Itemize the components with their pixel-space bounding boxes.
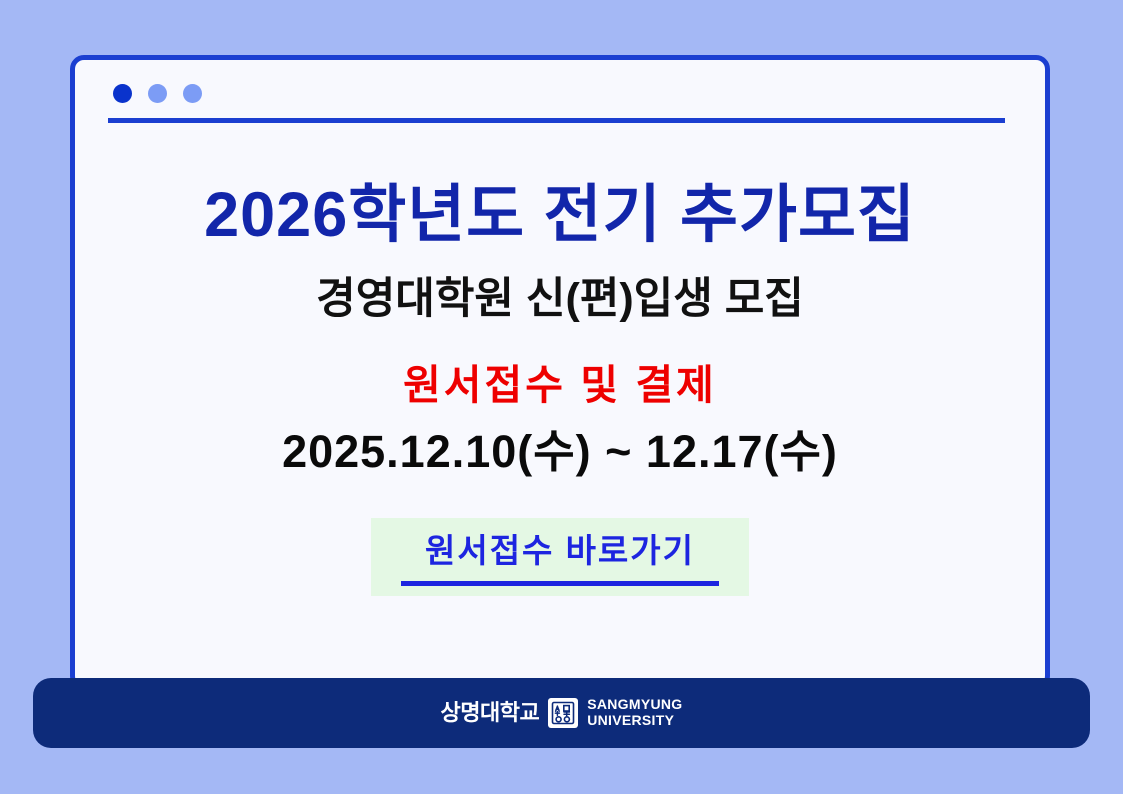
application-headline: 원서접수 및 결제 [75, 323, 1045, 408]
browser-card: 2026학년도 전기 추가모집 경영대학원 신(편)입생 모집 원서접수 및 결… [70, 55, 1050, 690]
application-period: 2025.12.10(수) ~ 12.17(수) [75, 409, 1045, 477]
poster-root: 2026학년도 전기 추가모집 경영대학원 신(편)입생 모집 원서접수 및 결… [0, 0, 1123, 794]
window-dot-close-icon[interactable] [113, 84, 132, 103]
apply-now-button-label: 원서접수 바로가기 [401, 532, 719, 570]
page-subtitle: 경영대학원 신(편)입생 모집 [75, 248, 1045, 323]
university-name-ko: 상명대학교 [441, 702, 540, 724]
cta-container: 원서접수 바로가기 [75, 518, 1045, 596]
sangmyung-emblem-icon [548, 698, 578, 728]
university-name-en: SANGMYUNG UNIVERSITY [587, 697, 682, 728]
apply-now-button[interactable]: 원서접수 바로가기 [371, 518, 749, 596]
page-title: 2026학년도 전기 추가모집 [75, 156, 1045, 248]
university-name-en-line1: SANGMYUNG [587, 697, 682, 713]
university-name-en-line2: UNIVERSITY [587, 713, 682, 729]
university-logo: 상명대학교 SANGMYUNG UNIVERSITY [441, 697, 683, 728]
apply-now-button-underline [401, 581, 719, 586]
window-dot-maximize-icon[interactable] [183, 84, 202, 103]
window-dot-minimize-icon[interactable] [148, 84, 167, 103]
header-divider [108, 118, 1005, 123]
window-controls [113, 84, 202, 103]
poster-content: 2026학년도 전기 추가모집 경영대학원 신(편)입생 모집 원서접수 및 결… [75, 156, 1045, 596]
footer-bar: 상명대학교 SANGMYUNG UNIVERSITY [33, 678, 1090, 748]
